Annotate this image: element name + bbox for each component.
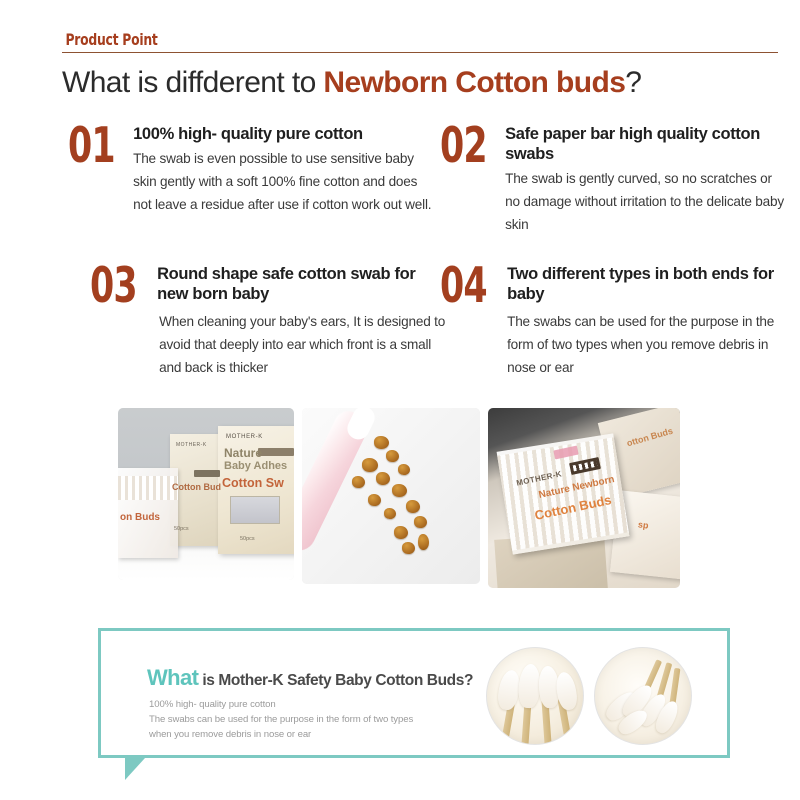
feature-item-04: 04 Two different types in both ends for … xyxy=(440,264,790,379)
debris-particle xyxy=(386,450,399,462)
headline-accent: Newborn Cotton buds xyxy=(323,66,625,99)
feature-title: Safe paper bar high quality cotton swabs xyxy=(505,124,790,164)
feature-text: The swab is gently curved, so no scratch… xyxy=(505,167,790,236)
kicker-divider xyxy=(62,52,778,53)
debris-particle xyxy=(376,472,390,485)
debris-particle xyxy=(414,516,427,528)
product-photo-packs: MOTHER-K Nature Newborn Cotton Buds otto… xyxy=(488,408,680,588)
feature-body: Safe paper bar high quality cotton swabs… xyxy=(505,124,790,236)
kicker-label: Product Point xyxy=(62,30,161,50)
package-window xyxy=(230,496,280,524)
feature-number: 02 xyxy=(440,125,487,168)
callout-line: 100% high- quality pure cotton xyxy=(149,697,413,712)
callout-title-highlight: What xyxy=(147,665,198,690)
feature-body: Two different types in both ends for bab… xyxy=(507,264,790,379)
feature-number: 04 xyxy=(440,265,487,308)
feature-item-01: 01 100% high- quality pure cotton The sw… xyxy=(68,124,438,216)
debris-particle xyxy=(392,484,407,497)
swab-closeup-circle-ribbed xyxy=(486,647,584,745)
callout-line: The swabs can be used for the purpose in… xyxy=(149,712,413,727)
headline-prefix: What is diffderent to xyxy=(62,66,323,99)
debris-particle xyxy=(402,542,415,554)
swab-closeup-circle-smooth xyxy=(594,647,692,745)
feature-text: The swab is even possible to use sensiti… xyxy=(133,147,438,216)
product-photo-swab-debris xyxy=(302,408,480,584)
package-badge xyxy=(258,448,294,456)
feature-item-02: 02 Safe paper bar high quality cotton sw… xyxy=(440,124,790,236)
callout-line: when you remove debris in nose or ear xyxy=(149,727,413,742)
debris-particle xyxy=(418,534,429,550)
page-title: What is diffderent to Newborn Cotton bud… xyxy=(62,66,641,100)
headline-suffix: ? xyxy=(625,66,641,99)
package-box-primary xyxy=(218,426,294,554)
debris-particle xyxy=(368,494,381,506)
callout-title-rest: is Mother-K Safety Baby Cotton Buds? xyxy=(202,672,473,689)
debris-particle xyxy=(384,508,396,519)
feature-item-03: 03 Round shape safe cotton swab for new … xyxy=(90,264,450,379)
feature-body: Round shape safe cotton swab for new bor… xyxy=(157,264,450,379)
callout-title: Whatis Mother-K Safety Baby Cotton Buds? xyxy=(147,665,473,691)
feature-title: Round shape safe cotton swab for new bor… xyxy=(157,264,450,304)
feature-text: When cleaning your baby's ears, It is de… xyxy=(157,310,450,379)
package-blister-pack xyxy=(118,468,178,558)
callout-pointer-triangle xyxy=(125,758,145,780)
product-photo-boxes: MOTHER-K MOTHER-K Nature Baby Adhes Cott… xyxy=(118,408,294,580)
product-photo-gallery: MOTHER-K MOTHER-K Nature Baby Adhes Cott… xyxy=(0,408,800,586)
debris-particle xyxy=(352,476,365,488)
debris-particle xyxy=(398,464,410,475)
debris-particle xyxy=(362,458,378,472)
package-badge-secondary xyxy=(194,470,220,477)
debris-particle xyxy=(406,500,420,513)
debris-particle xyxy=(394,526,408,539)
feature-text: The swabs can be used for the purpose in… xyxy=(507,310,790,379)
feature-number: 03 xyxy=(90,265,137,308)
debris-particle xyxy=(374,436,389,449)
callout-description: 100% high- quality pure cotton The swabs… xyxy=(149,697,413,742)
section-kicker: Product Point xyxy=(62,30,778,50)
feature-title: Two different types in both ends for bab… xyxy=(507,264,790,304)
feature-title: 100% high- quality pure cotton xyxy=(133,124,438,144)
feature-number: 01 xyxy=(68,125,115,168)
summary-callout-box: Whatis Mother-K Safety Baby Cotton Buds?… xyxy=(98,628,730,758)
feature-body: 100% high- quality pure cotton The swab … xyxy=(133,124,438,216)
